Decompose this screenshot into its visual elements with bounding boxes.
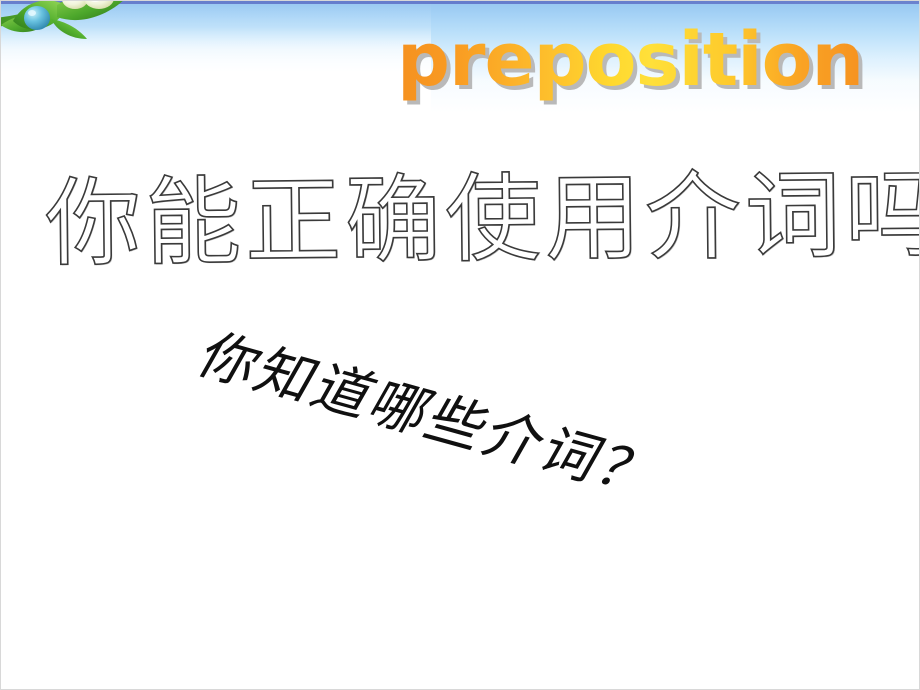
slide-body-empty-area <box>1 471 920 690</box>
slide-title-text: preposition <box>397 17 867 103</box>
headline-outlined-text: 你能正确使用介词吗？ <box>44 150 885 289</box>
slide-title: preposition preposition <box>397 17 867 103</box>
slide-canvas: preposition preposition 你能正确使用介词吗？ 你知道哪些… <box>0 0 920 690</box>
lily-of-the-valley-sprig-icon <box>0 0 175 61</box>
